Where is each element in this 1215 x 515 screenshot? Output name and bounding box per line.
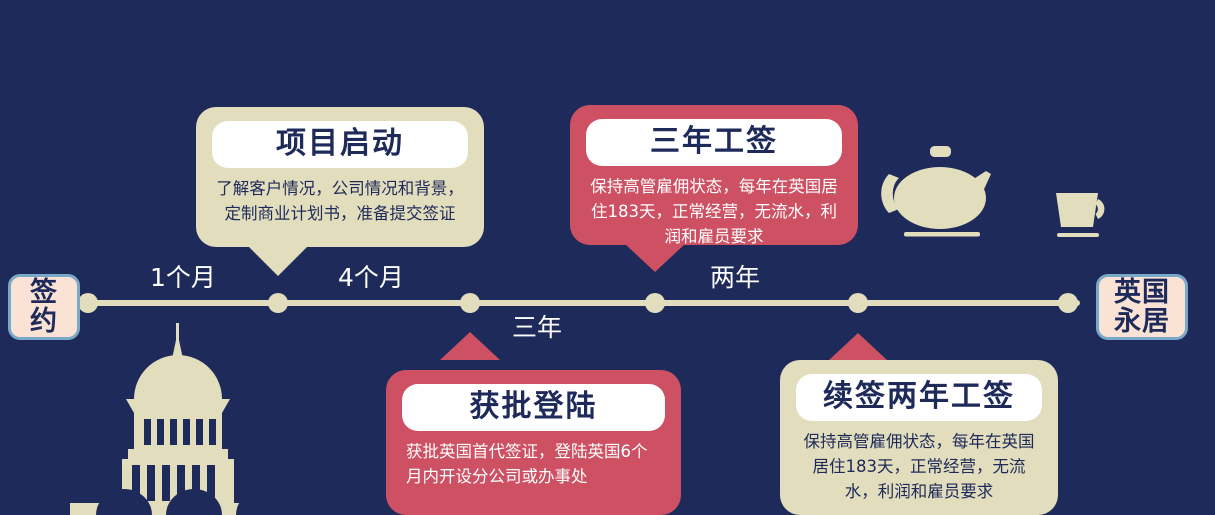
timeline-dot-4 [645, 293, 665, 313]
card-renewal-two-year-body: 保持高管雇佣状态，每年在英国居住183天，正常经营，无流水，利润和雇员要求 [796, 430, 1042, 504]
capitol-building-icon [70, 315, 290, 515]
endpoint-start-line1: 签 [30, 278, 58, 307]
card-three-year-work-visa-title: 三年工签 [586, 119, 842, 166]
card-approved-landing[interactable]: 获批登陆 获批英国首代签证，登陆英国6个月内开设分公司或办事处 [386, 370, 681, 515]
card-three-year-work-visa[interactable]: 三年工签 保持高管雇佣状态，每年在英国居住183天，正常经营，无流水，利润和雇员… [570, 105, 858, 245]
card-renewal-two-year-title: 续签两年工签 [796, 374, 1042, 421]
timeline-axis [70, 300, 1080, 306]
card-approved-landing-body: 获批英国首代签证，登陆英国6个月内开设分公司或办事处 [402, 440, 665, 490]
timeline-infographic: 签 约 英国 永居 1个月 4个月 三年 两年 项目启动 了解客户情况，公司情况… [0, 0, 1215, 515]
timeline-dot-1 [78, 293, 98, 313]
interval-label-2: 4个月 [338, 258, 404, 294]
card-project-launch-pointer [248, 246, 308, 276]
endpoint-end-line2: 永居 [1114, 307, 1170, 336]
card-approved-landing-title: 获批登陆 [402, 384, 665, 431]
card-approved-landing-pointer [440, 332, 500, 360]
interval-label-1: 1个月 [150, 258, 216, 294]
timeline-dot-6 [1058, 293, 1078, 313]
card-project-launch[interactable]: 项目启动 了解客户情况，公司情况和背景，定制商业计划书，准备提交签证 [196, 107, 484, 247]
endpoint-start[interactable]: 签 约 [8, 274, 80, 340]
timeline-dot-5 [848, 293, 868, 313]
card-project-launch-title: 项目启动 [212, 121, 468, 168]
card-renewal-two-year-pointer [828, 333, 888, 361]
card-renewal-two-year[interactable]: 续签两年工签 保持高管雇佣状态，每年在英国居住183天，正常经营，无流水，利润和… [780, 360, 1058, 515]
endpoint-start-line2: 约 [30, 307, 58, 336]
interval-label-4: 两年 [710, 258, 760, 294]
teacup-icon [1052, 190, 1110, 242]
interval-label-3: 三年 [512, 308, 562, 344]
teapot-icon [880, 143, 995, 243]
timeline-dot-2 [268, 293, 288, 313]
card-three-year-work-visa-body: 保持高管雇佣状态，每年在英国居住183天，正常经营，无流水，利润和雇员要求 [586, 175, 842, 249]
card-project-launch-body: 了解客户情况，公司情况和背景，定制商业计划书，准备提交签证 [212, 177, 468, 227]
endpoint-end[interactable]: 英国 永居 [1096, 274, 1188, 340]
card-three-year-work-visa-pointer [625, 244, 685, 272]
timeline-dot-3 [460, 293, 480, 313]
endpoint-end-line1: 英国 [1114, 278, 1170, 307]
